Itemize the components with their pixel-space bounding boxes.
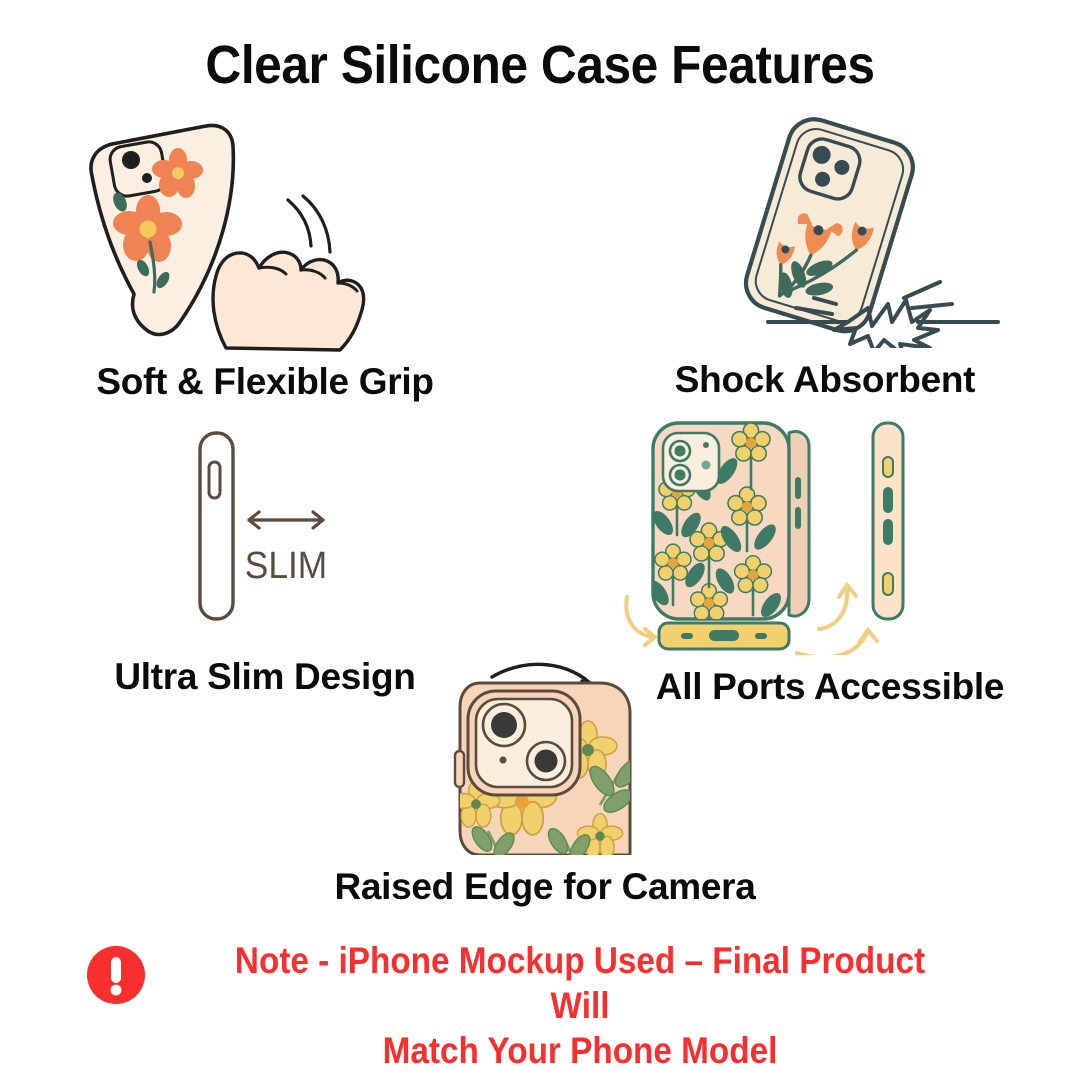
feature-raised-edge-for-camera: Raised Edge for Camera [300,655,790,908]
feature-soft-flexible-grip: Soft & Flexible Grip [30,112,500,403]
feature-shock-absorbent: Shock Absorbent [600,108,1050,401]
slim-profile-icon: SLIM [55,420,475,640]
note-line-2: Match Your Phone Model [207,1028,954,1073]
page-title: Clear Silicone Case Features [43,34,1037,96]
feature-label-soft-flexible-grip: Soft & Flexible Grip [30,361,500,403]
feature-label-shock-absorbent: Shock Absorbent [600,359,1050,401]
note-line-1: Note - iPhone Mockup Used – Final Produc… [207,938,954,1028]
ports-access-icon [605,415,1055,660]
phone-impact-burst-icon [600,108,1050,353]
note-banner: Note - iPhone Mockup Used – Final Produc… [0,938,1080,1073]
note-text: Note - iPhone Mockup Used – Final Produc… [207,938,954,1073]
camera-bump-closeup-icon [300,655,790,860]
feature-label-raised-edge-for-camera: Raised Edge for Camera [300,866,790,908]
svg-text:SLIM: SLIM [245,544,327,586]
exclamation-circle-icon [85,944,147,1006]
hand-flexing-phone-icon [30,112,500,357]
